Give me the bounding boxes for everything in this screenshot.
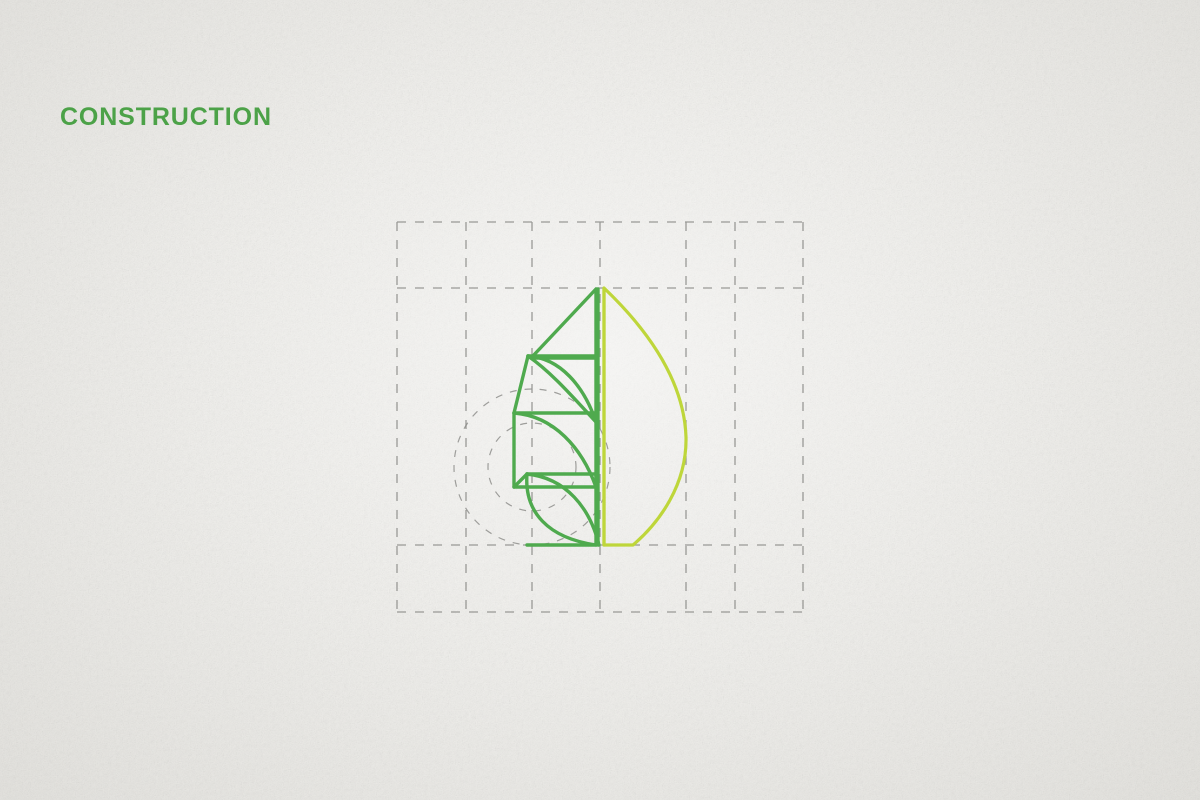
dashed-construction-grid [397, 222, 803, 612]
leaflet-1-base [528, 356, 531, 358]
leaflet-2-left-edge [514, 356, 528, 413]
leaf-left-segments [514, 289, 599, 545]
page-title: CONSTRUCTION [60, 103, 272, 132]
leaflet-1 [531, 289, 596, 358]
leaf-logo-outline [514, 288, 686, 545]
leaf-right-half [604, 288, 686, 545]
